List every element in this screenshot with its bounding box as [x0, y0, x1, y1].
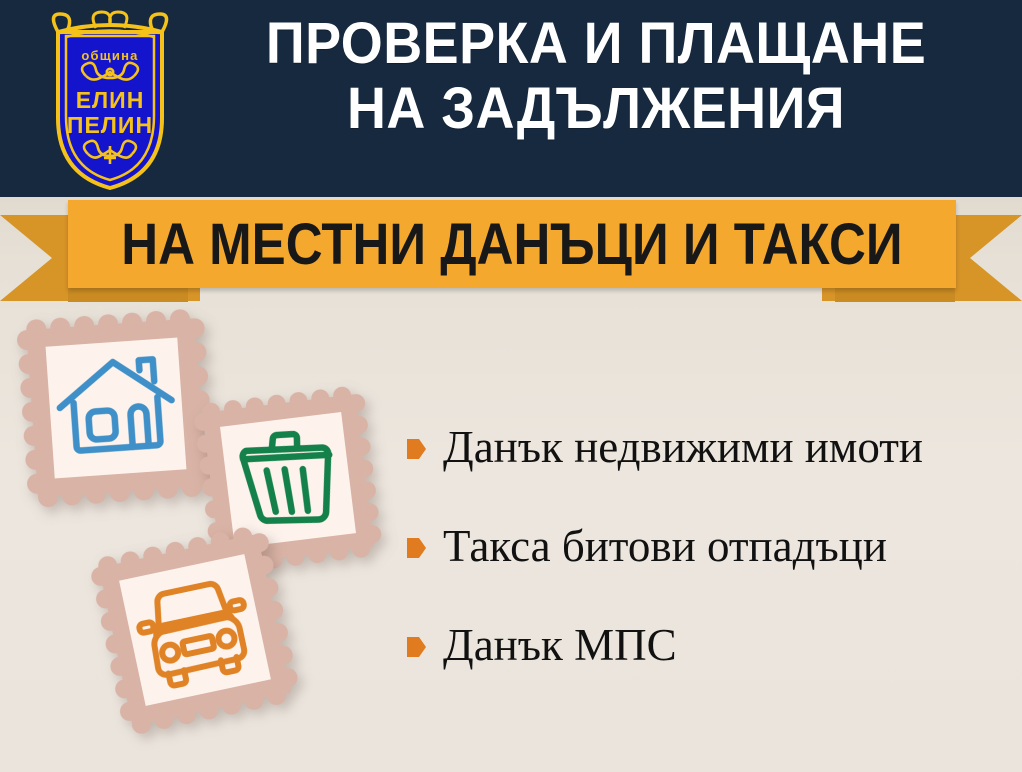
svg-text:ПЕЛИН: ПЕЛИН [67, 112, 153, 138]
poster-title: ПРОВЕРКА И ПЛАЩАНЕ НА ЗАДЪЛЖЕНИЯ [186, 14, 1006, 138]
list-item-label: Такса битови отпадъци [443, 524, 887, 569]
municipality-logo: община ЕЛИН ПЕЛИН [36, 6, 184, 191]
arrow-bullet-icon [405, 634, 427, 660]
list-item[interactable]: Данък недвижими имоти [405, 425, 1015, 470]
ribbon-text: НА МЕСТНИ ДАНЪЦИ И ТАКСИ [121, 211, 902, 278]
title-line-1: ПРОВЕРКА И ПЛАЩАНЕ [215, 14, 978, 73]
poster-root: община ЕЛИН ПЕЛИН ПРОВЕРКА И ПЛ [0, 0, 1022, 772]
stamp-car [82, 517, 307, 742]
svg-text:община: община [81, 48, 138, 63]
title-line-2: НА ЗАДЪЛЖЕНИЯ [215, 79, 978, 138]
poster-header: община ЕЛИН ПЕЛИН ПРОВЕРКА И ПЛ [0, 0, 1022, 197]
coat-of-arms-icon: община ЕЛИН ПЕЛИН [36, 6, 184, 191]
list-item[interactable]: Данък МПС [405, 623, 1015, 668]
ribbon-panel: НА МЕСТНИ ДАНЪЦИ И ТАКСИ [68, 200, 956, 288]
stamp-group [0, 300, 420, 772]
list-item-label: Данък МПС [443, 623, 677, 668]
stamp-car-graphic [82, 517, 307, 742]
subtitle-ribbon: НА МЕСТНИ ДАНЪЦИ И ТАКСИ [0, 196, 1022, 316]
arrow-bullet-icon [405, 535, 427, 561]
list-item[interactable]: Такса битови отпадъци [405, 524, 1015, 569]
tax-type-list: Данък недвижими имоти Такса битови отпад… [405, 425, 1015, 722]
arrow-bullet-icon [405, 436, 427, 462]
svg-text:ЕЛИН: ЕЛИН [76, 87, 145, 113]
list-item-label: Данък недвижими имоти [443, 425, 923, 470]
